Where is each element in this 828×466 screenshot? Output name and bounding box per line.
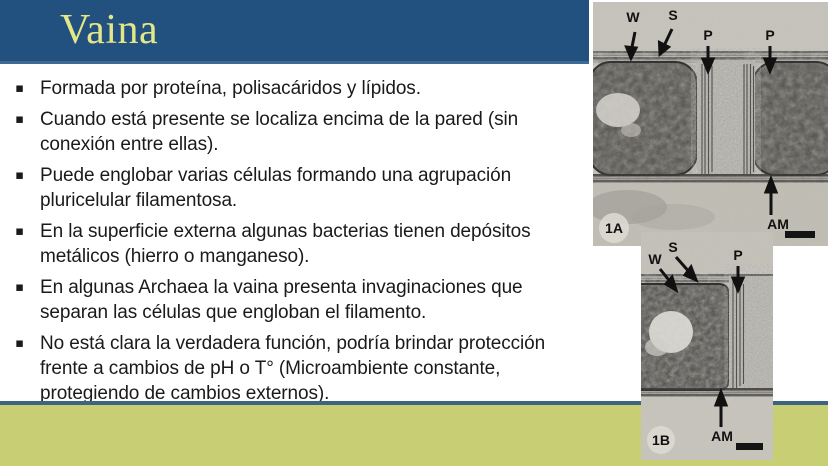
micrograph-label-s: S: [668, 239, 677, 255]
list-item-text: En algunas Archaea la vaina presenta inv…: [24, 275, 592, 325]
scale-bar: [785, 231, 815, 238]
list-item-text: Puede englobar varias células formando u…: [24, 163, 592, 213]
list-item: ▪ En algunas Archaea la vaina presenta i…: [0, 275, 592, 325]
scale-bar: [736, 443, 763, 450]
micrograph-label-am: AM: [711, 428, 733, 444]
micrograph-image-1b: W S P AM 1B: [641, 232, 773, 460]
title-bar-accent-stripe: [0, 61, 589, 64]
list-item: ▪ En la superficie externa algunas bacte…: [0, 219, 592, 269]
bullet-marker-icon: ▪: [0, 76, 24, 101]
bullet-marker-icon: ▪: [0, 331, 24, 356]
micrograph-label-p-right: P: [765, 27, 774, 43]
panel-label-1a: 1A: [605, 220, 623, 236]
micrograph-image-1a: W S P P AM 1A: [593, 2, 828, 246]
panel-label-1b: 1B: [652, 432, 670, 448]
bullet-marker-icon: ▪: [0, 107, 24, 132]
micrograph-label-am: AM: [767, 216, 789, 232]
list-item-text: Cuando está presente se localiza encima …: [24, 107, 592, 157]
bullet-marker-icon: ▪: [0, 275, 24, 300]
bullet-list: ▪ Formada por proteína, polisacáridos y …: [0, 76, 592, 412]
page-title: Vaina: [60, 2, 158, 58]
micrograph-label-p-left: P: [703, 27, 712, 43]
list-item-text: En la superficie externa algunas bacteri…: [24, 219, 592, 269]
bullet-marker-icon: ▪: [0, 219, 24, 244]
list-item: ▪ Puede englobar varias células formando…: [0, 163, 592, 213]
list-item: ▪ No está clara la verdadera función, po…: [0, 331, 592, 406]
list-item: ▪ Formada por proteína, polisacáridos y …: [0, 76, 592, 101]
micrograph-label-p: P: [733, 247, 742, 263]
micrograph-label-w: W: [648, 251, 662, 267]
micrograph-label-w: W: [626, 9, 640, 25]
micrograph-label-s: S: [668, 7, 677, 23]
list-item: ▪ Cuando está presente se localiza encim…: [0, 107, 592, 157]
bullet-marker-icon: ▪: [0, 163, 24, 188]
list-item-text: Formada por proteína, polisacáridos y lí…: [24, 76, 592, 101]
list-item-text: No está clara la verdadera función, podr…: [24, 331, 592, 406]
